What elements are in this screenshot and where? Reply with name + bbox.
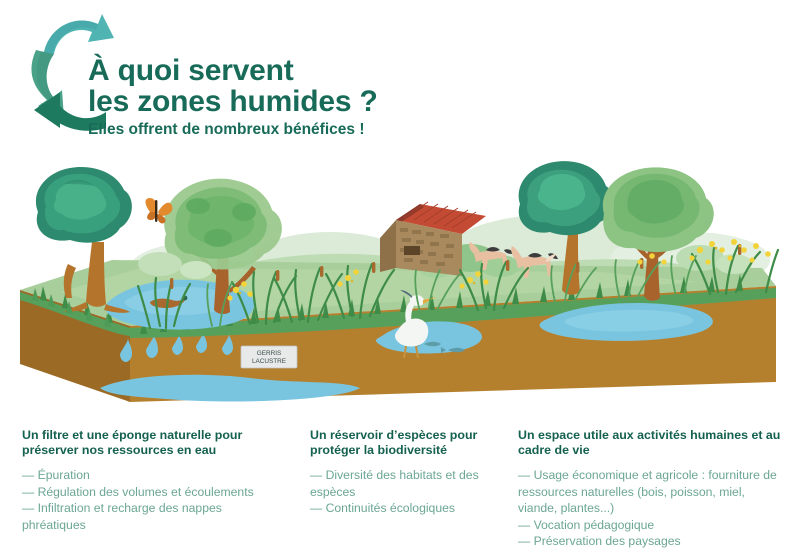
list-item-text: Continuités écologiques xyxy=(326,501,455,515)
benefit-column-water: Un filtre et une éponge naturelle pour p… xyxy=(22,428,287,533)
list-item: — Épuration xyxy=(22,467,287,484)
benefit-column-biodiversity: Un réservoir d’espèces pour protéger la … xyxy=(310,428,505,517)
oak-trunk xyxy=(86,242,106,307)
poster-root: À quoi servent les zones humides ? Elles… xyxy=(0,0,800,560)
wetland-cross-section-illustration: GERRIS LACUSTRE xyxy=(0,150,800,410)
barn-wall-gable xyxy=(380,220,396,272)
list-item-text: Infiltration et recharge des nappes phré… xyxy=(22,501,222,532)
dash-marker: — xyxy=(310,468,322,482)
sign-label-line-1: GERRIS xyxy=(257,350,282,357)
list-item: — Vocation pédagogique xyxy=(518,517,784,534)
dash-marker: — xyxy=(518,518,530,532)
sign-label-line-2: LACUSTRE xyxy=(252,358,286,365)
list-item: — Infiltration et recharge des nappes ph… xyxy=(22,500,287,533)
list-item: — Usage économique et agricole : fournit… xyxy=(518,467,784,517)
benefit-heading-3: Un espace utile aux activités humaines e… xyxy=(518,428,784,458)
list-item: — Continuités écologiques xyxy=(310,500,505,517)
page-title-line-1: À quoi servent xyxy=(88,55,378,86)
illustration-svg: GERRIS LACUSTRE xyxy=(0,150,800,410)
barn-window xyxy=(404,246,420,255)
arrow-left-shade xyxy=(37,51,54,101)
dash-marker: — xyxy=(310,501,322,515)
benefit-heading-2: Un réservoir d’espèces pour protéger la … xyxy=(310,428,505,458)
dash-marker: — xyxy=(22,501,34,515)
list-item-text: Usage économique et agricole : fournitur… xyxy=(518,468,777,515)
list-item: — Régulation des volumes et écoulements xyxy=(22,484,287,501)
page-subtitle: Elles offrent de nombreux bénéfices ! xyxy=(88,120,378,139)
list-item-text: Épuration xyxy=(38,468,90,482)
dash-marker: — xyxy=(518,468,530,482)
benefit-list-3: — Usage économique et agricole : fournit… xyxy=(518,467,784,550)
header: À quoi servent les zones humides ? Elles… xyxy=(0,0,520,160)
list-item: — Diversité des habitats et des espèces xyxy=(310,467,505,500)
dash-marker: — xyxy=(22,468,34,482)
dash-marker: — xyxy=(22,485,34,499)
list-item-text: Préservation des paysages xyxy=(534,534,681,548)
list-item: — Préservation des paysages xyxy=(518,533,784,550)
title-block: À quoi servent les zones humides ? Elles… xyxy=(88,55,378,139)
list-item-text: Vocation pédagogique xyxy=(534,518,655,532)
benefit-column-human-activities: Un espace utile aux activités humaines e… xyxy=(518,428,784,550)
dash-marker: — xyxy=(518,534,530,548)
list-item-text: Régulation des volumes et écoulements xyxy=(38,485,254,499)
benefit-heading-1: Un filtre et une éponge naturelle pour p… xyxy=(22,428,287,458)
information-sign[interactable]: GERRIS LACUSTRE xyxy=(241,346,297,368)
benefit-list-2: — Diversité des habitats et des espèces … xyxy=(310,467,505,517)
page-title-line-2: les zones humides ? xyxy=(88,86,378,117)
benefits-columns: Un filtre et une éponge naturelle pour p… xyxy=(0,428,800,560)
list-item-text: Diversité des habitats et des espèces xyxy=(310,468,479,499)
benefit-list-1: — Épuration — Régulation des volumes et … xyxy=(22,467,287,533)
